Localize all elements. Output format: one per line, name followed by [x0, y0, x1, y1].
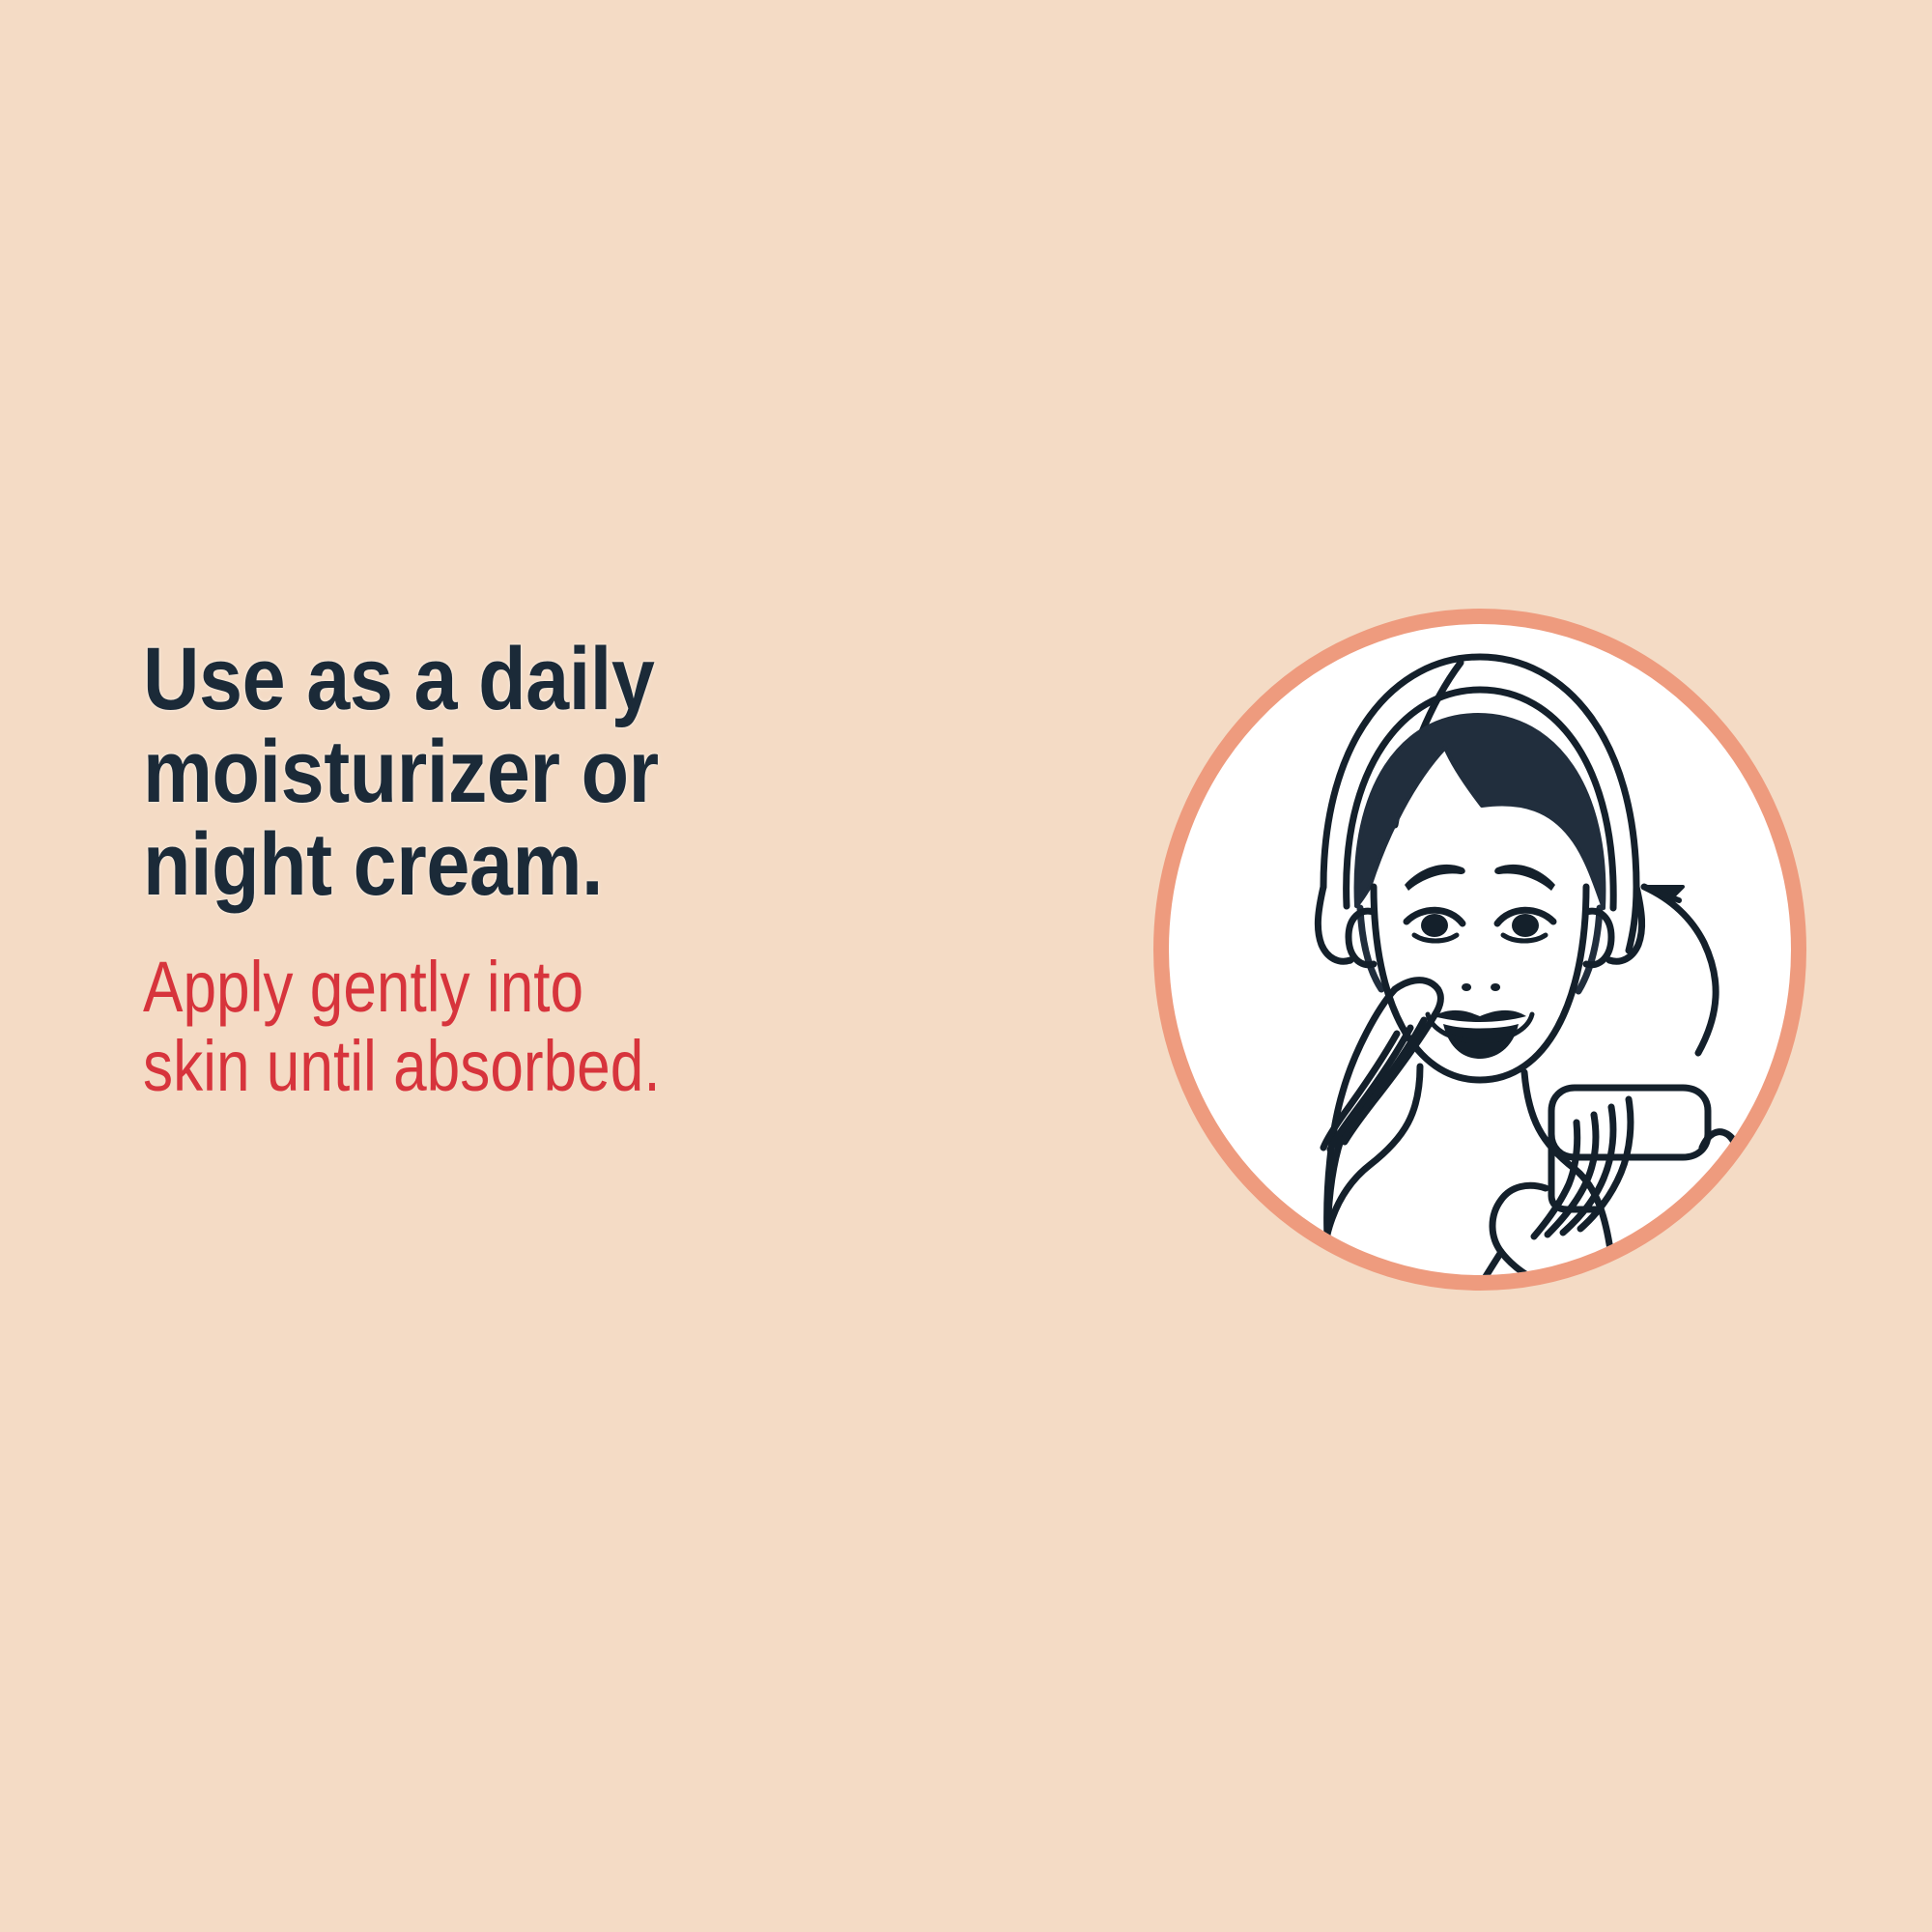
- woman-applying-cream-illustration: [1142, 597, 1818, 1302]
- right-forearm-2: [1553, 1294, 1559, 1302]
- eye-right-pupil: [1512, 914, 1539, 937]
- nostril-left: [1462, 983, 1471, 991]
- page-subtitle: Apply gently into skin until absorbed.: [143, 911, 800, 1105]
- nostril-right: [1491, 983, 1500, 991]
- illustration-circle: [1142, 597, 1818, 1302]
- text-block: Use as a daily moisturizer or night crea…: [143, 633, 925, 1105]
- page-title: Use as a daily moisturizer or night crea…: [143, 633, 832, 911]
- banner-canvas: Use as a daily moisturizer or night crea…: [0, 0, 1932, 1932]
- eye-left-pupil: [1421, 914, 1448, 937]
